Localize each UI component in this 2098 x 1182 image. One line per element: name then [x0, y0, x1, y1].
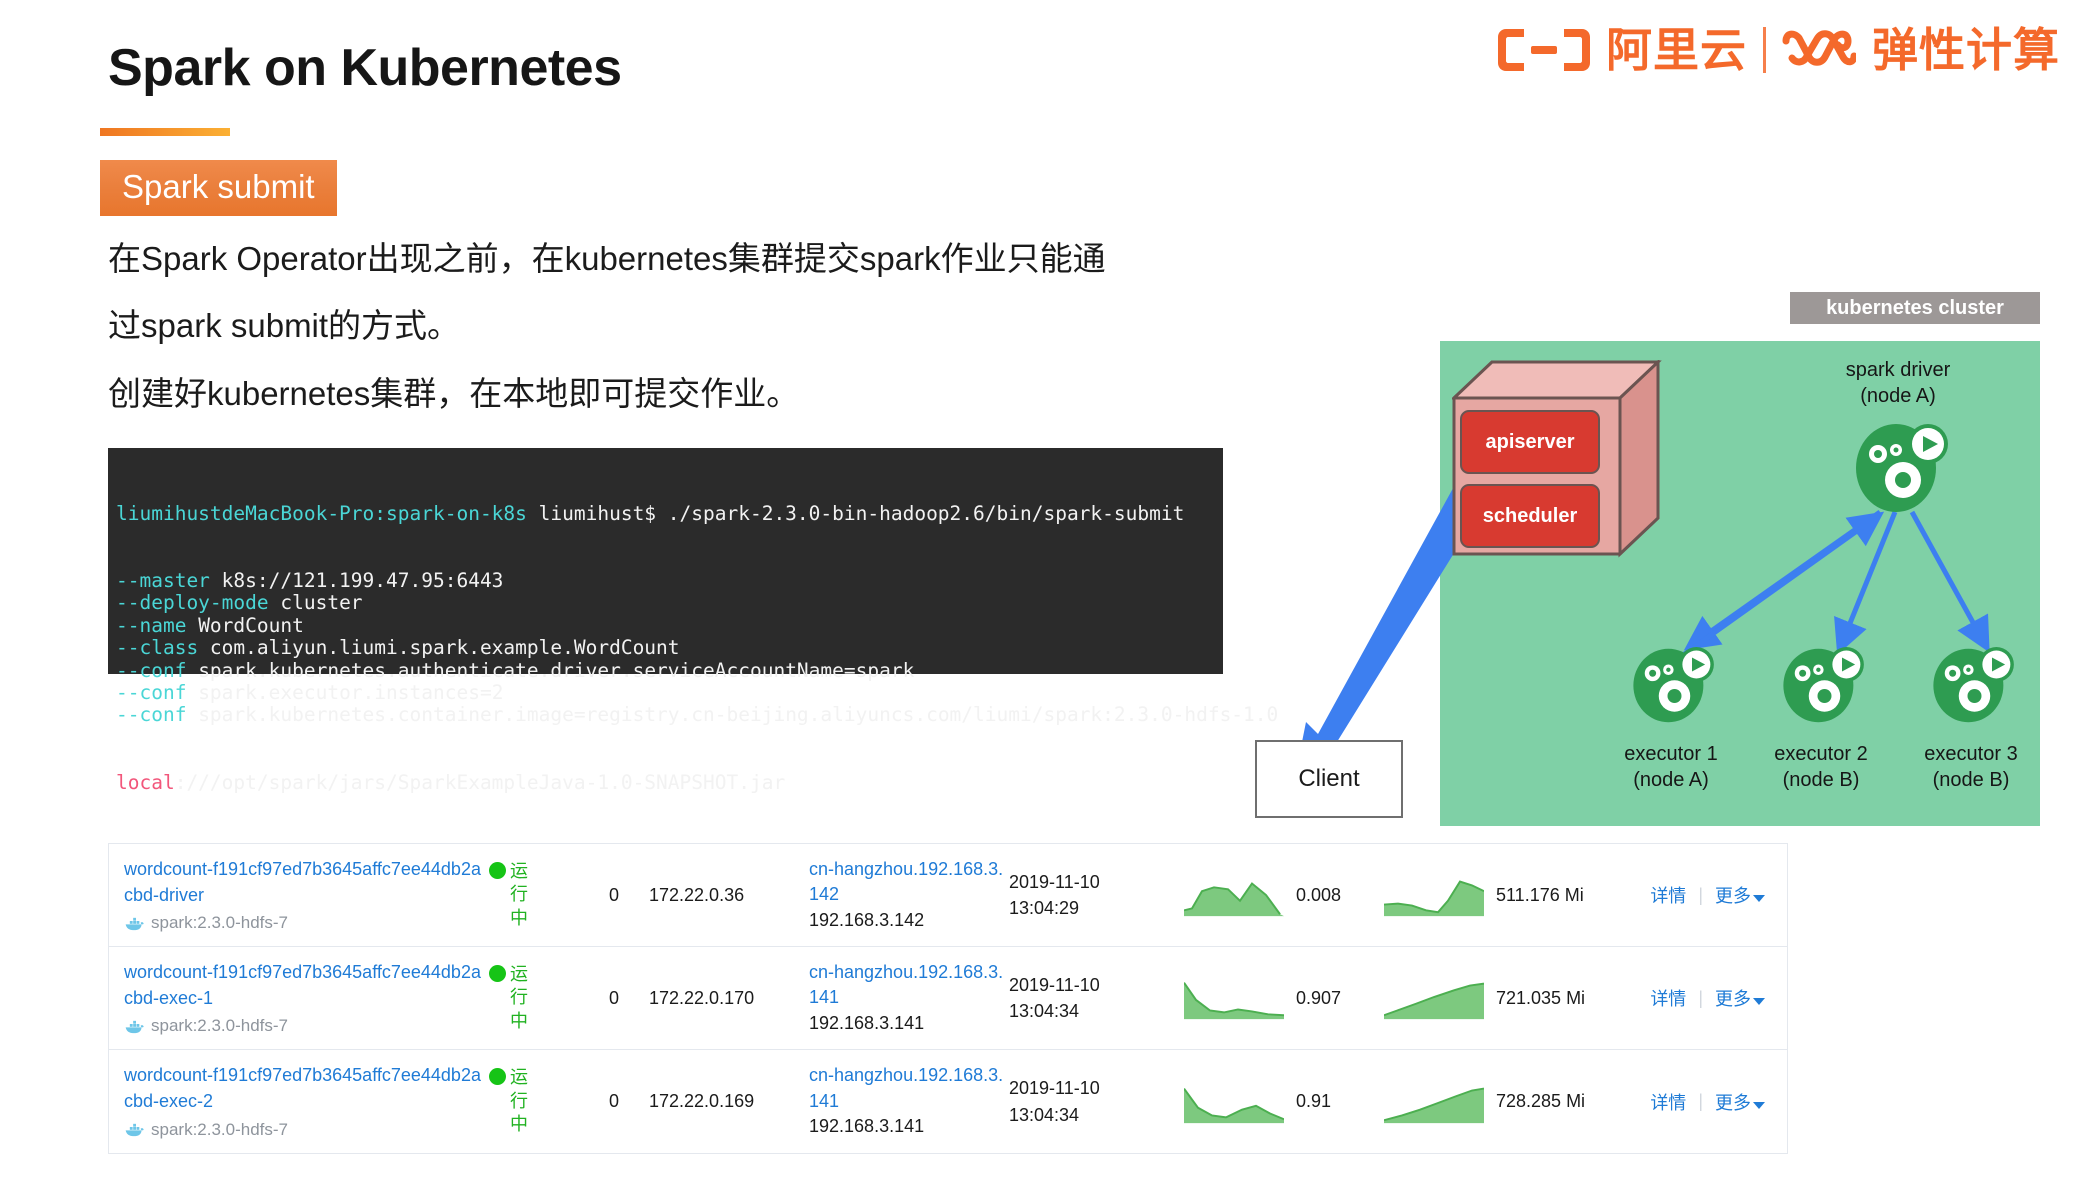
executor-node: (node A) — [1603, 768, 1739, 794]
pod-name-cell: wordcount-f191cf97ed7b3645affc7ee44db2ac… — [109, 1063, 489, 1139]
created-date: 2019-11-10 — [1009, 972, 1184, 998]
terminal-block: liumihustdeMacBook-Pro:spark-on-k8s lium… — [108, 448, 1223, 674]
row-actions: 详情|更多 — [1614, 882, 1787, 908]
executor-pod-icon — [1625, 640, 1717, 724]
pod-ip: 172.22.0.170 — [649, 988, 809, 1009]
created-time: 2019-11-1013:04:34 — [1009, 972, 1184, 1024]
host-cell: cn-hangzhou.192.168.3.141192.168.3.141 — [809, 1063, 1009, 1140]
details-link[interactable]: 详情 — [1650, 1089, 1686, 1115]
terminal-flag: --conf — [116, 703, 186, 726]
host-link[interactable]: cn-hangzhou.192.168.3.141 — [809, 960, 1009, 1011]
pod-image-text: spark:2.3.0-hdfs-7 — [151, 913, 288, 933]
slide: Spark on Kubernetes Spark submit 阿里云 弹性计… — [0, 0, 2098, 1182]
created-clock: 13:04:34 — [1009, 998, 1184, 1024]
host-cell: cn-hangzhou.192.168.3.141192.168.3.141 — [809, 960, 1009, 1037]
terminal-flag: --class — [116, 636, 198, 659]
spark-submit-arrow-label: spark-submit — [1345, 433, 1425, 544]
chevron-down-icon — [1753, 998, 1765, 1005]
created-clock: 13:04:34 — [1009, 1102, 1184, 1128]
logo-product-text: 弹性计算 — [1872, 27, 2060, 73]
table-row: wordcount-f191cf97ed7b3645affc7ee44db2ac… — [109, 1050, 1787, 1153]
docker-icon — [124, 1019, 144, 1034]
body-line-2: 过spark submit的方式。 — [108, 299, 1228, 352]
cpu-sparkline — [1184, 872, 1284, 918]
more-dropdown[interactable]: 更多 — [1715, 985, 1765, 1011]
created-date: 2019-11-10 — [1009, 869, 1184, 895]
memory-cell: 728.285 Mi — [1384, 1079, 1614, 1125]
body-line-3: 创建好kubernetes集群，在本地即可提交作业。 — [108, 367, 1228, 420]
terminal-arg: cluster — [269, 591, 363, 614]
status-badge: 运行中 — [489, 860, 579, 930]
status-badge: 运行中 — [489, 963, 579, 1033]
body-paragraph: 在Spark Operator出现之前，在kubernetes集群提交spark… — [108, 232, 1228, 434]
more-dropdown[interactable]: 更多 — [1715, 1089, 1765, 1115]
terminal-flag: --name — [116, 614, 186, 637]
pod-name-link[interactable]: wordcount-f191cf97ed7b3645affc7ee44db2ac… — [124, 1063, 489, 1114]
terminal-prompt-host: liumihustdeMacBook-Pro:spark-on-k8s — [116, 502, 527, 525]
cpu-sparkline — [1184, 1079, 1284, 1125]
executor-title: executor 3 — [1903, 742, 2039, 768]
terminal-line-3: --class com.aliyun.liumi.spark.example.W… — [116, 637, 1223, 659]
terminal-arg: k8s://121.199.47.95:6443 — [210, 569, 504, 592]
pod-image: spark:2.3.0-hdfs-7 — [124, 913, 489, 933]
cpu-value: 0.008 — [1296, 885, 1341, 906]
pod-image: spark:2.3.0-hdfs-7 — [124, 1120, 489, 1140]
terminal-prompt-command: liumihust$ ./spark-2.3.0-bin-hadoop2.6/b… — [527, 502, 1184, 525]
memory-sparkline — [1384, 872, 1484, 918]
memory-cell: 721.035 Mi — [1384, 975, 1614, 1021]
terminal-arg: spark.kubernetes.container.image=registr… — [186, 703, 1278, 726]
body-line-1: 在Spark Operator出现之前，在kubernetes集群提交spark… — [108, 232, 1228, 285]
host-cell: cn-hangzhou.192.168.3.142192.168.3.142 — [809, 857, 1009, 934]
created-time: 2019-11-1013:04:29 — [1009, 869, 1184, 921]
cpu-cell: 0.91 — [1184, 1079, 1384, 1125]
terminal-flag: --deploy-mode — [116, 591, 269, 614]
terminal-line-4: --conf spark.kubernetes.authenticate.dri… — [116, 660, 1223, 682]
executor-pod-icon — [1925, 640, 2017, 724]
aliyun-bracket-icon — [1498, 26, 1590, 74]
pod-name-link[interactable]: wordcount-f191cf97ed7b3645affc7ee44db2ac… — [124, 857, 489, 908]
status-dot-icon — [489, 862, 506, 879]
chevron-down-icon — [1753, 895, 1765, 902]
alibaba-cloud-logo: 阿里云 弹性计算 — [1498, 26, 2060, 74]
created-clock: 13:04:29 — [1009, 895, 1184, 921]
pod-image: spark:2.3.0-hdfs-7 — [124, 1016, 489, 1036]
terminal-jar-scheme: local — [116, 771, 175, 794]
cpu-value: 0.91 — [1296, 1091, 1331, 1112]
restart-count: 0 — [579, 885, 649, 906]
action-separator: | — [1698, 885, 1703, 906]
spark-driver-node: (node A) — [1838, 384, 1958, 410]
terminal-line-2: --name WordCount — [116, 615, 1223, 637]
terminal-line-prompt: liumihustdeMacBook-Pro:spark-on-k8s lium… — [116, 503, 1223, 525]
pod-name-link[interactable]: wordcount-f191cf97ed7b3645affc7ee44db2ac… — [124, 960, 489, 1011]
memory-value: 721.035 Mi — [1496, 988, 1585, 1009]
executor-node: (node B) — [1753, 768, 1889, 794]
docker-icon — [124, 1122, 144, 1137]
accent-bar — [100, 128, 230, 136]
host-ip: 192.168.3.142 — [809, 908, 1009, 934]
memory-cell: 511.176 Mi — [1384, 872, 1614, 918]
created-date: 2019-11-10 — [1009, 1075, 1184, 1101]
spark-driver-pod-icon — [1848, 418, 1950, 514]
row-actions: 详情|更多 — [1614, 985, 1787, 1011]
action-separator: | — [1698, 1091, 1703, 1112]
scheduler-pill: scheduler — [1460, 484, 1600, 548]
logo-divider — [1763, 27, 1766, 73]
pod-image-text: spark:2.3.0-hdfs-7 — [151, 1016, 288, 1036]
executor-label: executor 2(node B) — [1753, 742, 1889, 793]
memory-sparkline — [1384, 1079, 1484, 1125]
executor-label: executor 1(node A) — [1603, 742, 1739, 793]
pod-ip: 172.22.0.169 — [649, 1091, 809, 1112]
executor-label: executor 3(node B) — [1903, 742, 2039, 793]
terminal-line-6: --conf spark.kubernetes.container.image=… — [116, 704, 1223, 726]
executor-node: (node B) — [1903, 768, 2039, 794]
cpu-sparkline — [1184, 975, 1284, 1021]
terminal-line-5: --conf spark.executor.instances=2 — [116, 682, 1223, 704]
pod-ip: 172.22.0.36 — [649, 885, 809, 906]
pods-table: wordcount-f191cf97ed7b3645affc7ee44db2ac… — [108, 843, 1788, 1154]
ecs-wave-icon — [1782, 27, 1856, 73]
status-text: 运行中 — [510, 860, 540, 930]
cpu-cell: 0.907 — [1184, 975, 1384, 1021]
executor-title: executor 2 — [1753, 742, 1889, 768]
host-ip: 192.168.3.141 — [809, 1114, 1009, 1140]
host-link[interactable]: cn-hangzhou.192.168.3.142 — [809, 857, 1009, 908]
terminal-line-jar: local:///opt/spark/jars/SparkExampleJava… — [116, 772, 1223, 794]
terminal-arg: spark.executor.instances=2 — [186, 681, 503, 704]
details-link[interactable]: 详情 — [1650, 882, 1686, 908]
page-title: Spark on Kubernetes — [108, 38, 622, 98]
table-row: wordcount-f191cf97ed7b3645affc7ee44db2ac… — [109, 947, 1787, 1050]
pod-name-cell: wordcount-f191cf97ed7b3645affc7ee44db2ac… — [109, 960, 489, 1036]
terminal-flag: --conf — [116, 681, 186, 704]
terminal-arg: spark.kubernetes.authenticate.driver.ser… — [186, 659, 914, 682]
memory-value: 728.285 Mi — [1496, 1091, 1585, 1112]
action-separator: | — [1698, 988, 1703, 1009]
docker-icon — [124, 916, 144, 931]
restart-count: 0 — [579, 988, 649, 1009]
more-dropdown[interactable]: 更多 — [1715, 882, 1765, 908]
kubernetes-master-box: apiserver scheduler — [1452, 360, 1662, 580]
terminal-arg: WordCount — [186, 614, 303, 637]
terminal-flag: --conf — [116, 659, 186, 682]
terminal-flag: --master — [116, 569, 210, 592]
cpu-value: 0.907 — [1296, 988, 1341, 1009]
restart-count: 0 — [579, 1091, 649, 1112]
memory-sparkline — [1384, 975, 1484, 1021]
cpu-cell: 0.008 — [1184, 872, 1384, 918]
terminal-arg: com.aliyun.liumi.spark.example.WordCount — [198, 636, 679, 659]
terminal-options: --master k8s://121.199.47.95:6443--deplo… — [116, 570, 1223, 727]
status-dot-icon — [489, 1068, 506, 1085]
row-actions: 详情|更多 — [1614, 1089, 1787, 1115]
status-text: 运行中 — [510, 963, 540, 1033]
chevron-down-icon — [1753, 1102, 1765, 1109]
terminal-line-1: --deploy-mode cluster — [116, 592, 1223, 614]
logo-brand-text: 阿里云 — [1606, 27, 1747, 73]
status-badge: 运行中 — [489, 1066, 579, 1136]
status-text: 运行中 — [510, 1066, 540, 1136]
kubernetes-cluster-label: kubernetes cluster — [1790, 292, 2040, 324]
created-time: 2019-11-1013:04:34 — [1009, 1075, 1184, 1127]
status-dot-icon — [489, 965, 506, 982]
table-row: wordcount-f191cf97ed7b3645affc7ee44db2ac… — [109, 844, 1787, 947]
client-box: Client — [1255, 740, 1403, 818]
pod-name-cell: wordcount-f191cf97ed7b3645affc7ee44db2ac… — [109, 857, 489, 933]
terminal-line-0: --master k8s://121.199.47.95:6443 — [116, 570, 1223, 592]
apiserver-pill: apiserver — [1460, 410, 1600, 474]
host-ip: 192.168.3.141 — [809, 1011, 1009, 1037]
executor-pod-icon — [1775, 640, 1867, 724]
executor-title: executor 1 — [1603, 742, 1739, 768]
pod-image-text: spark:2.3.0-hdfs-7 — [151, 1120, 288, 1140]
details-link[interactable]: 详情 — [1650, 985, 1686, 1011]
host-link[interactable]: cn-hangzhou.192.168.3.141 — [809, 1063, 1009, 1114]
terminal-jar-path: :///opt/spark/jars/SparkExampleJava-1.0-… — [175, 771, 785, 794]
section-badge: Spark submit — [100, 160, 337, 216]
spark-driver-label: spark driver (node A) — [1838, 358, 1958, 409]
memory-value: 511.176 Mi — [1496, 885, 1584, 906]
spark-driver-title: spark driver — [1838, 358, 1958, 384]
